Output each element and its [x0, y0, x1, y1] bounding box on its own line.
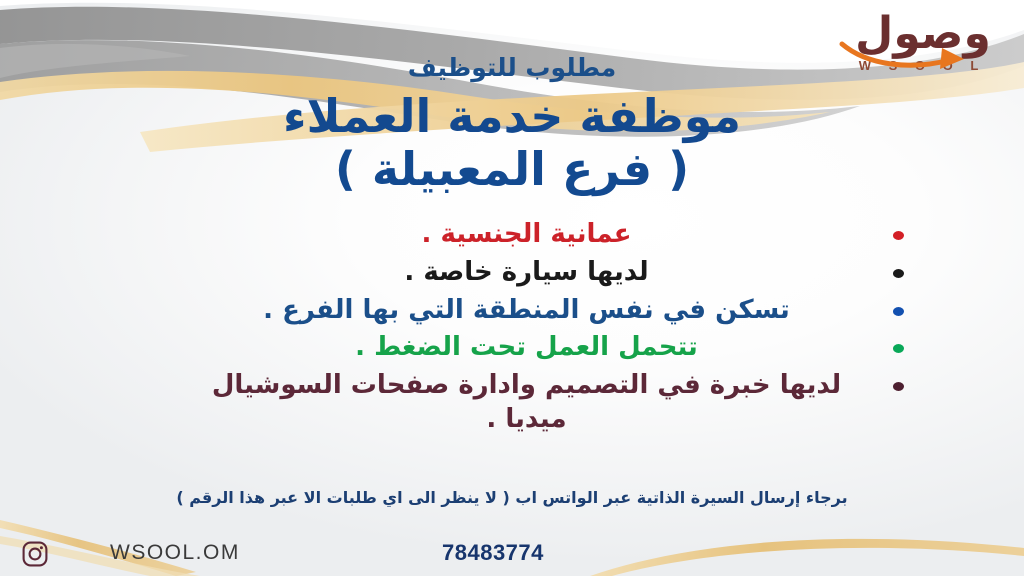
requirement-text: عمانية الجنسية . — [164, 218, 871, 252]
requirement-item: تتحمل العمل تحت الضغط . — [164, 331, 904, 365]
requirement-item: لديها سيارة خاصة . — [164, 256, 904, 290]
bullet-black-icon — [893, 269, 904, 278]
bullet-green-icon — [893, 344, 904, 353]
hiring-poster: وصول W S O O L مطلوب للتوظيف موظفة خدمة … — [0, 0, 1024, 576]
page-title-line-1: موظفة خدمة العملاء — [0, 92, 1024, 142]
instagram-icon[interactable] — [22, 541, 48, 567]
bullet-maroon-icon — [893, 382, 904, 391]
instagram-handle[interactable]: WSOOL.OM — [110, 541, 240, 565]
kicker-text: مطلوب للتوظيف — [0, 53, 1024, 82]
requirement-text: تسكن في نفس المنطقة التي بها الفرع . — [164, 294, 871, 328]
requirement-item: عمانية الجنسية . — [164, 218, 904, 252]
whatsapp-phone-number[interactable]: 78483774 — [442, 540, 544, 566]
bullet-blue-icon — [893, 307, 904, 316]
bullet-red-icon — [893, 231, 904, 240]
requirement-item: لديها خبرة في التصميم وادارة صفحات السوش… — [164, 369, 904, 437]
requirements-list: عمانية الجنسية .لديها سيارة خاصة .تسكن ف… — [164, 218, 904, 441]
application-note: برجاء إرسال السيرة الذاتية عبر الواتس اب… — [0, 486, 1024, 509]
page-title-line-2: ( فرع المعبيلة ) — [0, 145, 1024, 195]
requirement-text: لديها سيارة خاصة . — [164, 256, 871, 290]
requirement-text: لديها خبرة في التصميم وادارة صفحات السوش… — [164, 369, 871, 437]
requirement-text: تتحمل العمل تحت الضغط . — [164, 331, 871, 365]
contact-bar: WSOOL.OM 78483774 — [0, 533, 1024, 576]
requirement-item: تسكن في نفس المنطقة التي بها الفرع . — [164, 294, 904, 328]
